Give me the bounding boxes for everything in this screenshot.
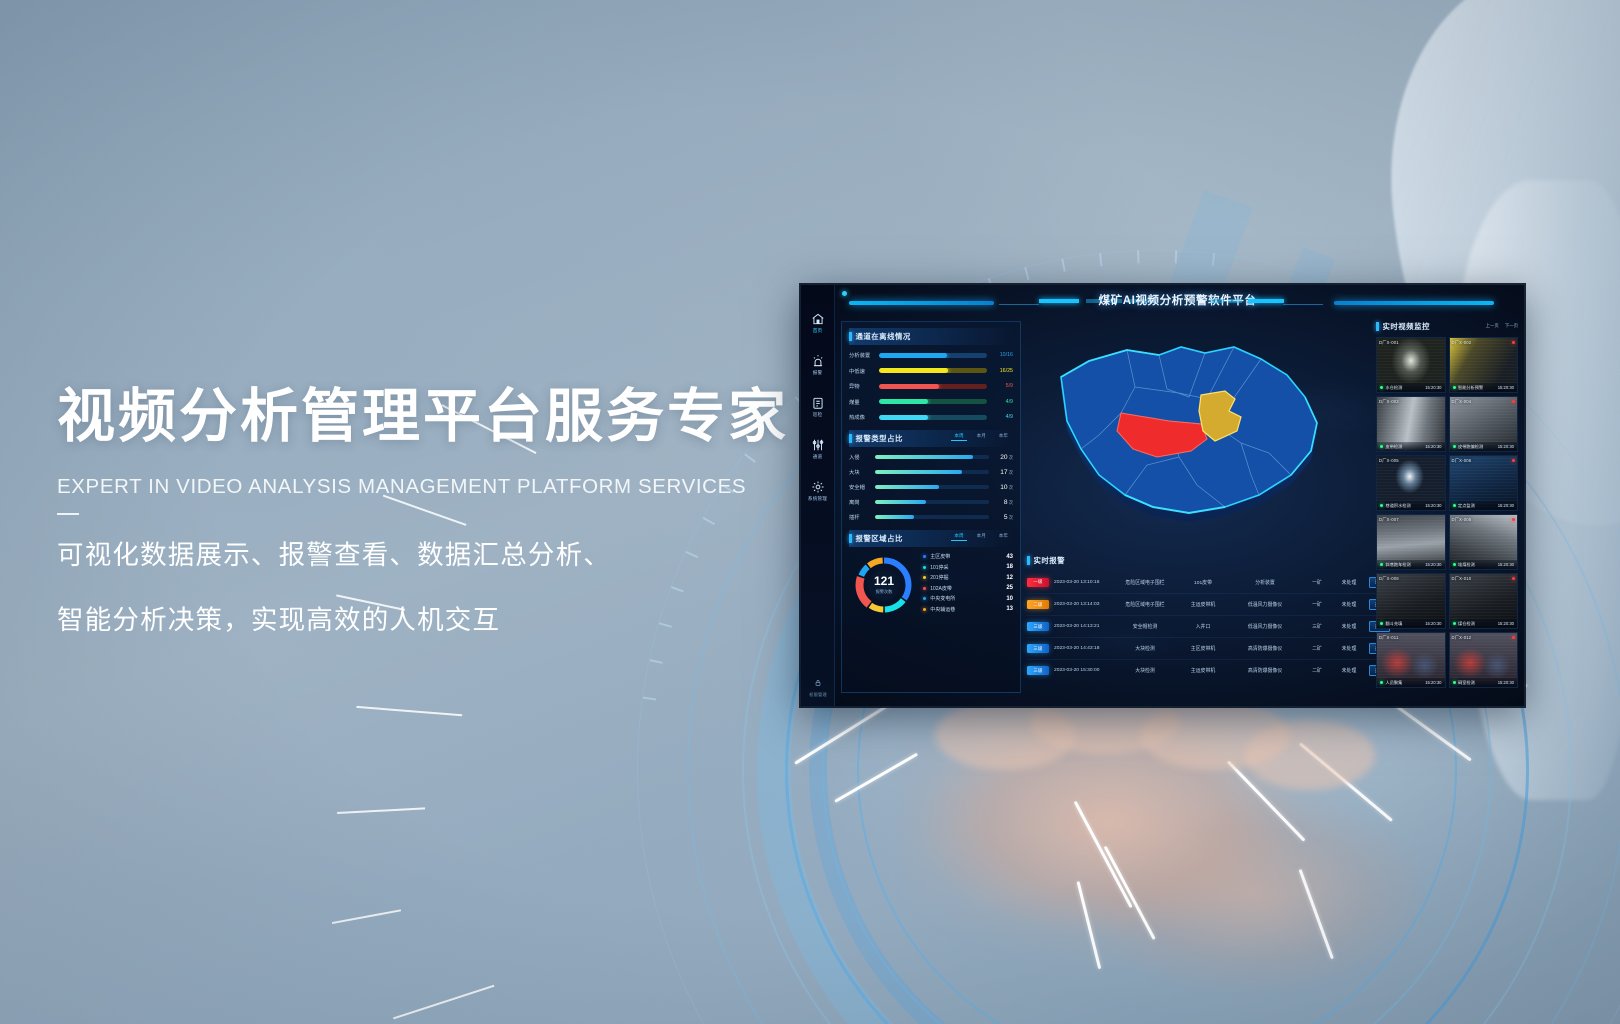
video-tile-footer: 斜巷跑车检测15:20:30	[1377, 560, 1445, 569]
channel-row-label: 异物	[849, 382, 879, 390]
donut-legend-row: 201停掘12	[923, 574, 1013, 581]
channel-rows: 分析装置10/16中低速16/25异物5/9煤量4/9热成像4/9	[849, 351, 1013, 421]
channel-row-value: 4/9	[987, 399, 1013, 405]
video-tile-footer: 水仓检测15:20:30	[1377, 383, 1445, 392]
video-camera-id: D厂X-005	[1379, 458, 1399, 464]
donut-legend-dot	[923, 608, 926, 611]
video-camera-id: D厂X-007	[1379, 517, 1399, 523]
alarm-status: 未处理	[1334, 667, 1364, 674]
status-online-dot	[1380, 504, 1383, 507]
alarm-type-row: 插杆5次	[849, 513, 1013, 521]
alarm-type: 危险区域电子围栏	[1114, 601, 1176, 608]
video-camera-id: D厂X-002	[1452, 340, 1472, 346]
alarm-type: 安全帽检测	[1114, 623, 1176, 630]
alarm-type-tab[interactable]: 本年	[996, 432, 1011, 441]
donut-legend-row: 101停采18	[923, 564, 1013, 571]
alarm-status: 未处理	[1334, 623, 1364, 630]
alarm-type-row: 安全帽10次	[849, 483, 1013, 491]
record-indicator-icon	[1512, 341, 1515, 344]
donut-legend-row: 中央变电所10	[923, 595, 1013, 602]
hero-description-line-1: 可视化数据展示、报警查看、数据汇总分析、	[57, 531, 837, 580]
video-detection-name: 巷道积水检测	[1386, 503, 1423, 509]
hero-copy: 视频分析管理平台服务专家 EXPERT IN VIDEO ANALYSIS MA…	[57, 384, 837, 645]
donut-legend-label: 中央辅运巷	[930, 606, 1006, 613]
channel-row-track	[879, 399, 987, 404]
video-tile[interactable]: D厂X-007斜巷跑车检测15:20:30	[1376, 514, 1446, 570]
channel-online-panel: 通道在离线情况 分析装置10/16中低速16/25异物5/9煤量4/9热成像4/…	[849, 328, 1013, 421]
hero-description-line-2: 智能分析决策，实现高效的人机交互	[57, 596, 837, 645]
alarm-type-fill	[875, 485, 939, 490]
record-indicator-icon	[1512, 459, 1515, 462]
alarm-type-track	[875, 470, 989, 475]
video-monitor-panel: 实时视频监控 上一页 下一页 D厂X-001水仓检测15:20:30D厂X-00…	[1376, 321, 1518, 699]
video-detection-name: 智能分析预警	[1458, 385, 1495, 391]
donut-total-caption: 报警次数	[876, 589, 893, 595]
alarm-type-label: 插杆	[849, 513, 875, 521]
video-timestamp: 15:20:30	[1425, 680, 1441, 685]
channel-row: 热成像4/9	[849, 413, 1013, 421]
donut-legend-label: 101停采	[930, 564, 1006, 571]
alarm-type-panel-header: 报警类型占比 本周本月本年	[849, 430, 1013, 447]
alarm-time: 2023-03-20 14:13:21	[1054, 624, 1114, 629]
video-timestamp: 15:20:30	[1425, 621, 1441, 626]
sidebar-item-home[interactable]: 首页	[801, 311, 835, 334]
hand-finger-3	[1245, 720, 1375, 790]
video-camera-id: D厂X-011	[1379, 635, 1398, 641]
donut-legend: 主区皮带43101停采18201停掘12102A皮带25中央变电所10中央辅运巷…	[915, 553, 1013, 617]
alarm-time: 2023-03-20 15:30:00	[1054, 668, 1114, 673]
gear-icon	[801, 479, 835, 494]
channel-row-label: 煤量	[849, 398, 879, 406]
alarm-area-panel-header: 报警区域占比 本周本月本年	[849, 530, 1013, 547]
donut-legend-dot	[923, 587, 926, 590]
video-detection-name: 翻斗充填	[1386, 621, 1423, 627]
video-tile[interactable]: D厂X-009翻斗充填15:20:30	[1376, 573, 1446, 629]
video-panel-header: 实时视频监控 上一页 下一页	[1376, 321, 1518, 332]
donut-legend-row: 中央辅运巷13	[923, 606, 1013, 613]
realtime-alarm-title: 实时报警	[1034, 555, 1066, 566]
accent-bar	[849, 534, 852, 543]
alarm-mine: 一矿	[1300, 601, 1334, 608]
channel-row-value: 10/16	[987, 352, 1013, 358]
alarm-area-tab[interactable]: 本周	[951, 532, 966, 541]
alarm-type-label: 安全帽	[849, 483, 875, 491]
donut-legend-dot	[923, 555, 926, 558]
video-tile[interactable]: D厂X-011人员聚集15:20:30	[1376, 632, 1446, 688]
video-tile-footer: 翻斗充填15:20:30	[1377, 619, 1445, 628]
alarm-type-track	[875, 515, 989, 520]
video-timestamp: 15:20:30	[1425, 385, 1441, 390]
alarm-area-tabs[interactable]: 本周本月本年	[951, 532, 1011, 541]
alarm-location: 入井口	[1176, 623, 1230, 630]
status-online-dot	[1453, 622, 1456, 625]
donut-legend-label: 主区皮带	[930, 553, 1006, 560]
channel-panel-header: 通道在离线情况	[849, 328, 1013, 345]
channel-row-value: 5/9	[987, 383, 1013, 389]
map-svg	[1029, 325, 1339, 550]
channel-row: 异物5/9	[849, 382, 1013, 390]
donut-legend-label: 102A皮带	[930, 585, 1006, 592]
alarm-type-value: 5次	[989, 514, 1013, 521]
video-tile-footer: 皮带检测15:20:30	[1377, 442, 1445, 451]
video-detection-name: 煤仓检测	[1458, 621, 1495, 627]
alarm-location: 主区皮带机	[1176, 645, 1230, 652]
donut-legend-value: 13	[1006, 606, 1013, 612]
video-timestamp: 15:20:30	[1425, 444, 1441, 449]
video-camera-id: D厂X-008	[1452, 517, 1472, 523]
alarm-time: 2023-03-20 13:14:03	[1054, 602, 1114, 607]
realtime-alarm-rows: 一级2023-03-20 13:10:16危险区域电子围栏101皮带分析装置一矿…	[1027, 571, 1382, 681]
channel-row: 煤量4/9	[849, 398, 1013, 406]
realtime-alarm-header: 实时报警	[1027, 555, 1382, 566]
video-tile[interactable]: D厂X-003皮带检测15:20:30	[1376, 396, 1446, 452]
alarm-table-row: 三级2023-03-20 14:43:18大块检测主区皮带机高清防爆摄像仪二矿未…	[1027, 637, 1382, 659]
donut-legend-value: 18	[1006, 564, 1013, 570]
alarm-device: 高清防爆摄像仪	[1230, 645, 1300, 652]
alarm-location: 主运皮带机	[1176, 667, 1230, 674]
sidebar-item-alarm[interactable]: 报警	[801, 353, 835, 376]
video-camera-id: D厂X-004	[1452, 399, 1472, 405]
video-tile-footer: 硐室检测15:20:30	[1450, 678, 1518, 687]
alarm-type-label: 大块	[849, 468, 875, 476]
record-indicator-icon	[1512, 636, 1515, 639]
alarm-type: 大块检测	[1114, 645, 1176, 652]
alarm-mine: 二矿	[1300, 667, 1334, 674]
donut-legend-dot	[923, 576, 926, 579]
dashboard-sidebar[interactable]: 首页 报警 巡检 通道 系统管理	[801, 285, 835, 706]
donut-legend-label: 201停掘	[930, 574, 1006, 581]
alarm-area-chart: 121 报警次数 主区皮带43101停采18201停掘12102A皮带25中央变…	[849, 553, 1013, 617]
header-chip-5	[1210, 299, 1224, 303]
alarm-time: 2023-03-20 14:43:18	[1054, 646, 1114, 651]
hero-divider	[57, 513, 79, 515]
alarm-type-fill	[875, 515, 914, 520]
donut-legend-dot	[923, 566, 926, 569]
alarm-type-track	[875, 500, 989, 505]
sidebar-item-channel[interactable]: 通道	[801, 437, 835, 460]
video-camera-id: D厂X-001	[1379, 340, 1399, 346]
sidebar-footer[interactable]: 权限管理	[801, 675, 835, 698]
alarm-type-row: 大块17次	[849, 468, 1013, 476]
alarm-type-track	[875, 485, 989, 490]
video-timestamp: 15:20:30	[1425, 562, 1441, 567]
donut-total-value: 121	[874, 575, 894, 587]
video-detection-name: 定点监测	[1458, 503, 1495, 509]
video-tile[interactable]: D厂X-012硐室检测15:20:30	[1449, 632, 1519, 688]
channel-row-label: 热成像	[849, 413, 879, 421]
alarm-table-row: 一级2023-03-20 13:10:16危险区域电子围栏101皮带分析装置一矿…	[1027, 571, 1382, 593]
donut-legend-value: 43	[1006, 554, 1013, 560]
video-timestamp: 15:20:30	[1498, 503, 1514, 508]
sidebar-item-system[interactable]: 系统管理	[801, 479, 835, 502]
video-detection-name: 皮带检测	[1386, 444, 1423, 450]
header-chip-7	[1248, 299, 1284, 303]
video-detection-name: 硐室检测	[1458, 680, 1495, 686]
channel-row-label: 中低速	[849, 367, 879, 375]
sidebar-label-alarm: 报警	[801, 370, 835, 376]
hero-headline: 视频分析管理平台服务专家	[57, 384, 837, 451]
channel-row: 中低速16/25	[849, 367, 1013, 375]
alarm-type-row: 离岗8次	[849, 498, 1013, 506]
alarm-type-track	[875, 455, 989, 460]
video-pagination[interactable]: 上一页 下一页	[1486, 323, 1518, 329]
donut-legend-value: 25	[1006, 585, 1013, 591]
alarm-mine: 一矿	[1300, 579, 1334, 586]
channel-row-track	[879, 353, 987, 358]
alarm-area-tab[interactable]: 本月	[974, 532, 989, 541]
alarm-type-fill	[875, 470, 962, 475]
left-analytics-column: 通道在离线情况 分析装置10/16中低速16/25异物5/9煤量4/9热成像4/…	[841, 321, 1021, 693]
channel-sliders-icon	[801, 437, 835, 452]
donut-center: 121 报警次数	[868, 569, 900, 601]
alarm-type-rows: 入侵20次大块17次安全帽10次离岗8次插杆5次	[849, 453, 1013, 521]
alarm-device: 低温风力摄像仪	[1230, 601, 1300, 608]
alarm-type-value: 10次	[989, 484, 1013, 491]
alarm-type-panel-title: 报警类型占比	[856, 433, 903, 444]
sidebar-label-channel: 通道	[801, 454, 835, 460]
channel-row-fill	[879, 384, 939, 389]
status-online-dot	[1380, 563, 1383, 566]
alarm-type-panel: 报警类型占比 本周本月本年 入侵20次大块17次安全帽10次离岗8次插杆5次	[849, 430, 1013, 521]
donut-legend-value: 12	[1006, 575, 1013, 581]
channel-row-fill	[879, 415, 928, 420]
donut-legend-label: 中央变电所	[930, 595, 1006, 602]
header-bar-right	[1334, 301, 1494, 305]
clipboard-check-icon	[801, 395, 835, 410]
dashboard-screen: 煤矿AI视频分析预警软件平台 首页 报警 巡检	[801, 285, 1524, 706]
accent-bar	[849, 332, 852, 341]
channel-row-fill	[879, 399, 928, 404]
status-online-dot	[1380, 622, 1383, 625]
alarm-area-panel: 报警区域占比 本周本月本年 121 报警次数 主区皮带43101停采18201停…	[849, 530, 1013, 617]
video-camera-id: D厂X-006	[1452, 458, 1472, 464]
alarm-device: 低温风力摄像仪	[1230, 623, 1300, 630]
alarm-type-tab[interactable]: 本月	[974, 432, 989, 441]
donut-legend-value: 10	[1006, 596, 1013, 602]
sidebar-label-inspection: 巡检	[801, 412, 835, 418]
alarm-type-value: 17次	[989, 469, 1013, 476]
status-online-dot	[1453, 386, 1456, 389]
alarm-level-badge: 一级	[1027, 578, 1049, 587]
video-tile[interactable]: D厂X-010煤仓检测15:20:30	[1449, 573, 1519, 629]
accent-bar	[849, 434, 852, 443]
dashboard-header: 煤矿AI视频分析预警软件平台	[801, 285, 1524, 318]
alarm-type-value: 20次	[989, 454, 1013, 461]
channel-row: 分析装置10/16	[849, 351, 1013, 359]
record-indicator-icon	[1512, 400, 1515, 403]
alarm-type-tab[interactable]: 本周	[951, 432, 966, 441]
channel-panel-title: 通道在离线情况	[856, 331, 911, 342]
alarm-status: 未处理	[1334, 601, 1364, 608]
alarm-level-badge: 二级	[1027, 600, 1049, 609]
alarm-type: 危险区域电子围栏	[1114, 579, 1176, 586]
alarm-light-icon	[801, 353, 835, 368]
alarm-status: 未处理	[1334, 645, 1364, 652]
alarm-type: 大块检测	[1114, 667, 1176, 674]
channel-row-label: 分析装置	[849, 351, 879, 359]
sidebar-footer-label: 权限管理	[801, 692, 835, 698]
alarm-time: 2023-03-20 13:10:16	[1054, 580, 1114, 585]
video-prev-page[interactable]: 上一页	[1486, 323, 1499, 329]
video-timestamp: 15:20:30	[1498, 385, 1514, 390]
video-tile[interactable]: D厂X-005巷道积水检测15:20:30	[1376, 455, 1446, 511]
donut-legend-dot	[923, 597, 926, 600]
permission-icon	[801, 675, 835, 690]
header-chip-6	[1228, 299, 1242, 303]
video-camera-id: D厂X-012	[1452, 635, 1472, 641]
accent-bar	[1027, 556, 1030, 565]
sidebar-label-system: 系统管理	[801, 496, 835, 502]
channel-row-fill	[879, 368, 948, 373]
video-tile-footer: 皮带跑偏检测15:20:30	[1450, 442, 1518, 451]
video-tile[interactable]: D厂X-004皮带跑偏检测15:20:30	[1449, 396, 1519, 452]
alarm-type-row: 入侵20次	[849, 453, 1013, 461]
province-map[interactable]	[1029, 325, 1339, 550]
video-timestamp: 15:20:30	[1498, 621, 1514, 626]
channel-row-track	[879, 368, 987, 373]
alarm-level-badge: 三级	[1027, 622, 1049, 631]
record-indicator-icon	[1512, 518, 1515, 521]
video-timestamp: 15:20:30	[1498, 444, 1514, 449]
alarm-mine: 二矿	[1300, 645, 1334, 652]
status-online-dot	[1453, 563, 1456, 566]
video-detection-name: 斜巷跑车检测	[1386, 562, 1423, 568]
alarm-device: 高清防爆摄像仪	[1230, 667, 1300, 674]
channel-row-value: 4/9	[987, 414, 1013, 420]
video-tile-footer: 巷道积水检测15:20:30	[1377, 501, 1445, 510]
alarm-location: 主运皮带机	[1176, 601, 1230, 608]
donut-chart: 121 报警次数	[853, 554, 915, 616]
video-next-page[interactable]: 下一页	[1505, 323, 1518, 329]
video-tile-footer: 堆煤检测15:20:30	[1450, 560, 1518, 569]
alarm-level-badge: 三级	[1027, 666, 1049, 675]
video-camera-id: D厂X-003	[1379, 399, 1399, 405]
alarm-area-tab[interactable]: 本年	[996, 532, 1011, 541]
alarm-location: 101皮带	[1176, 579, 1230, 586]
status-online-dot	[1380, 681, 1383, 684]
video-detection-name: 人员聚集	[1386, 680, 1423, 686]
video-tile-footer: 人员聚集15:20:30	[1377, 678, 1445, 687]
video-detection-name: 水仓检测	[1386, 385, 1423, 391]
status-online-dot	[1380, 445, 1383, 448]
dashboard-title: 煤矿AI视频分析预警软件平台	[801, 292, 1524, 308]
alarm-area-panel-title: 报警区域占比	[856, 533, 903, 544]
sidebar-label-home: 首页	[801, 328, 835, 334]
video-tile-footer: 煤仓检测15:20:30	[1450, 619, 1518, 628]
channel-row-value: 16/25	[987, 368, 1013, 374]
video-tile[interactable]: D厂X-008堆煤检测15:20:30	[1449, 514, 1519, 570]
video-tile[interactable]: D厂X-002智能分析预警15:20:30	[1449, 337, 1519, 393]
sidebar-item-inspection[interactable]: 巡检	[801, 395, 835, 418]
video-timestamp: 15:20:30	[1498, 562, 1514, 567]
status-online-dot	[1380, 386, 1383, 389]
video-panel-title: 实时视频监控	[1383, 321, 1430, 332]
channel-row-fill	[879, 353, 947, 358]
record-indicator-icon	[1512, 577, 1515, 580]
channel-row-track	[879, 384, 987, 389]
alarm-mine: 三矿	[1300, 623, 1334, 630]
video-detection-name: 堆煤检测	[1458, 562, 1495, 568]
alarm-table-row: 三级2023-03-20 14:13:21安全帽检测入井口低温风力摄像仪三矿未处…	[1027, 615, 1382, 637]
donut-legend-row: 主区皮带43	[923, 553, 1013, 560]
channel-row-track	[879, 415, 987, 420]
video-tile-footer: 智能分析预警15:20:30	[1450, 383, 1518, 392]
realtime-alarm-panel: 实时报警 一级2023-03-20 13:10:16危险区域电子围栏101皮带分…	[1027, 555, 1382, 695]
video-camera-id: D厂X-009	[1379, 576, 1399, 582]
video-detection-name: 皮带跑偏检测	[1458, 444, 1495, 450]
alarm-type-value: 8次	[989, 499, 1013, 506]
status-online-dot	[1453, 681, 1456, 684]
alarm-table-row: 三级2023-03-20 15:30:00大块检测主运皮带机高清防爆摄像仪二矿未…	[1027, 659, 1382, 681]
alarm-table-row: 二级2023-03-20 13:14:03危险区域电子围栏主运皮带机低温风力摄像…	[1027, 593, 1382, 615]
alarm-status: 未处理	[1334, 579, 1364, 586]
alarm-level-badge: 三级	[1027, 644, 1049, 653]
donut-legend-row: 102A皮带25	[923, 585, 1013, 592]
home-icon	[801, 311, 835, 326]
alarm-type-fill	[875, 500, 926, 505]
video-grid: D厂X-001水仓检测15:20:30D厂X-002智能分析预警15:20:30…	[1376, 337, 1518, 688]
alarm-device: 分析装置	[1230, 579, 1300, 586]
alarm-type-label: 离岗	[849, 498, 875, 506]
video-camera-id: D厂X-010	[1452, 576, 1472, 582]
status-online-dot	[1453, 445, 1456, 448]
video-tile[interactable]: D厂X-006定点监测15:20:30	[1449, 455, 1519, 511]
video-tile-footer: 定点监测15:20:30	[1450, 501, 1518, 510]
alarm-type-label: 入侵	[849, 453, 875, 461]
alarm-type-fill	[875, 455, 973, 460]
accent-bar	[1376, 322, 1379, 331]
hero-subheadline: EXPERT IN VIDEO ANALYSIS MANAGEMENT PLAT…	[57, 475, 837, 499]
video-tile[interactable]: D厂X-001水仓检测15:20:30	[1376, 337, 1446, 393]
video-timestamp: 15:20:30	[1498, 680, 1514, 685]
video-timestamp: 15:20:30	[1425, 503, 1441, 508]
status-online-dot	[1453, 504, 1456, 507]
alarm-type-tabs[interactable]: 本周本月本年	[951, 432, 1011, 441]
